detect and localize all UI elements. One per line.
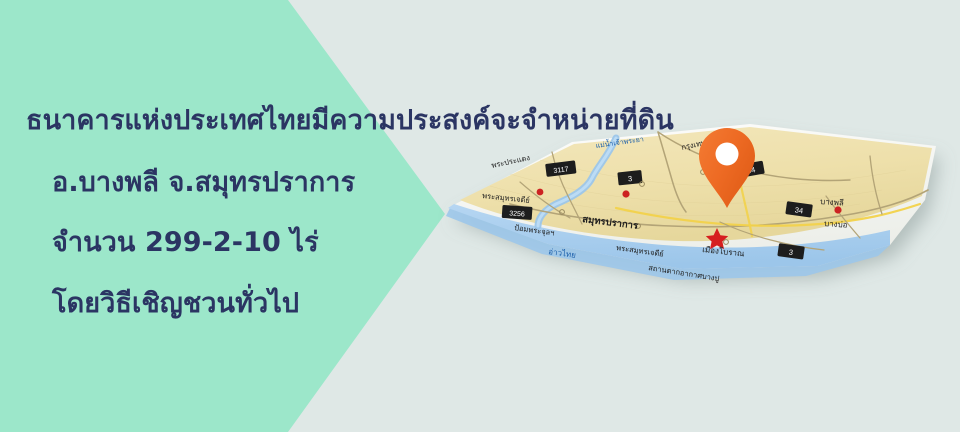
headline-line-2: อ.บางพลี จ.สมุทรปราการ (52, 160, 355, 203)
map-label-bangbo: บางบ่อ (824, 219, 848, 230)
headline-line-1: ธนาคารแห่งประเทศไทยมีความประสงค์จะจำหน่า… (26, 98, 674, 141)
map-pin (697, 126, 757, 210)
headline-block: ธนาคารแห่งประเทศไทยมีความประสงค์จะจำหน่า… (0, 0, 470, 432)
svg-text:34: 34 (794, 205, 804, 215)
headline-line-3: จำนวน 299-2-10 ไร่ (52, 220, 319, 263)
map-pin-icon (697, 126, 757, 210)
promo-banner: ธนาคารแห่งประเทศไทยมีความประสงค์จะจำหน่า… (0, 0, 960, 432)
svg-text:3256: 3256 (509, 210, 525, 218)
map-label-bangphli: บางพลี (820, 197, 844, 208)
headline-line-4: โดยวิธีเชิญชวนทั่วไป (52, 281, 299, 324)
